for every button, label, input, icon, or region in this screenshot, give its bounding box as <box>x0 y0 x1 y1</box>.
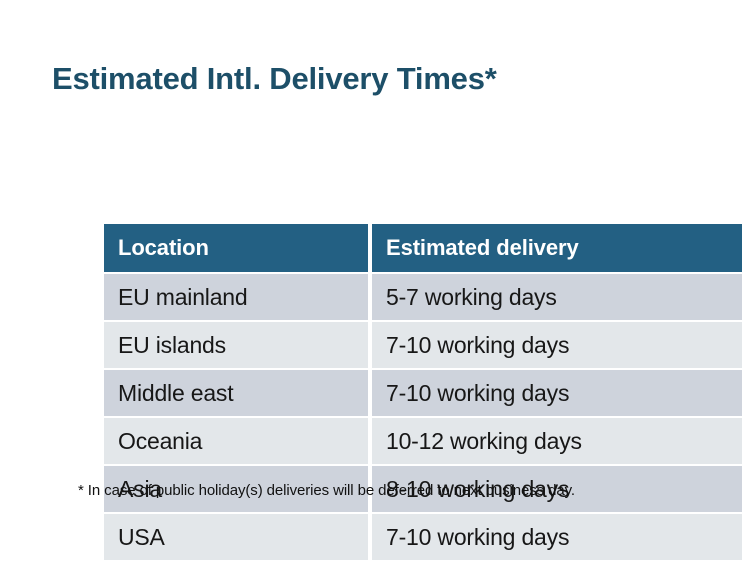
cell-delivery: 7-10 working days <box>372 514 742 560</box>
table-row: USA 7-10 working days <box>104 514 742 560</box>
table-row: Oceania 10-12 working days <box>104 418 742 464</box>
column-header-estimated-delivery: Estimated delivery <box>372 224 742 272</box>
delivery-times-table: Location Estimated delivery EU mainland … <box>100 222 745 562</box>
cell-location: Middle east <box>104 370 368 416</box>
page-title: Estimated Intl. Delivery Times* <box>52 59 497 99</box>
cell-delivery: 7-10 working days <box>372 370 742 416</box>
column-header-location: Location <box>104 224 368 272</box>
table-row: EU mainland 5-7 working days <box>104 274 742 320</box>
cell-delivery: 7-10 working days <box>372 322 742 368</box>
table-header-row: Location Estimated delivery <box>104 224 742 272</box>
delivery-times-panel: Estimated Intl. Delivery Times* Location… <box>0 0 745 536</box>
table-row: Middle east 7-10 working days <box>104 370 742 416</box>
cell-delivery: 5-7 working days <box>372 274 742 320</box>
table-header: Location Estimated delivery <box>104 224 742 272</box>
cell-location: EU mainland <box>104 274 368 320</box>
footnote-text: * In case of public holiday(s) deliverie… <box>78 482 575 499</box>
cell-location: EU islands <box>104 322 368 368</box>
cell-delivery: 10-12 working days <box>372 418 742 464</box>
cell-location: USA <box>104 514 368 560</box>
cell-location: Oceania <box>104 418 368 464</box>
table-body: EU mainland 5-7 working days EU islands … <box>104 274 742 560</box>
table-row: EU islands 7-10 working days <box>104 322 742 368</box>
